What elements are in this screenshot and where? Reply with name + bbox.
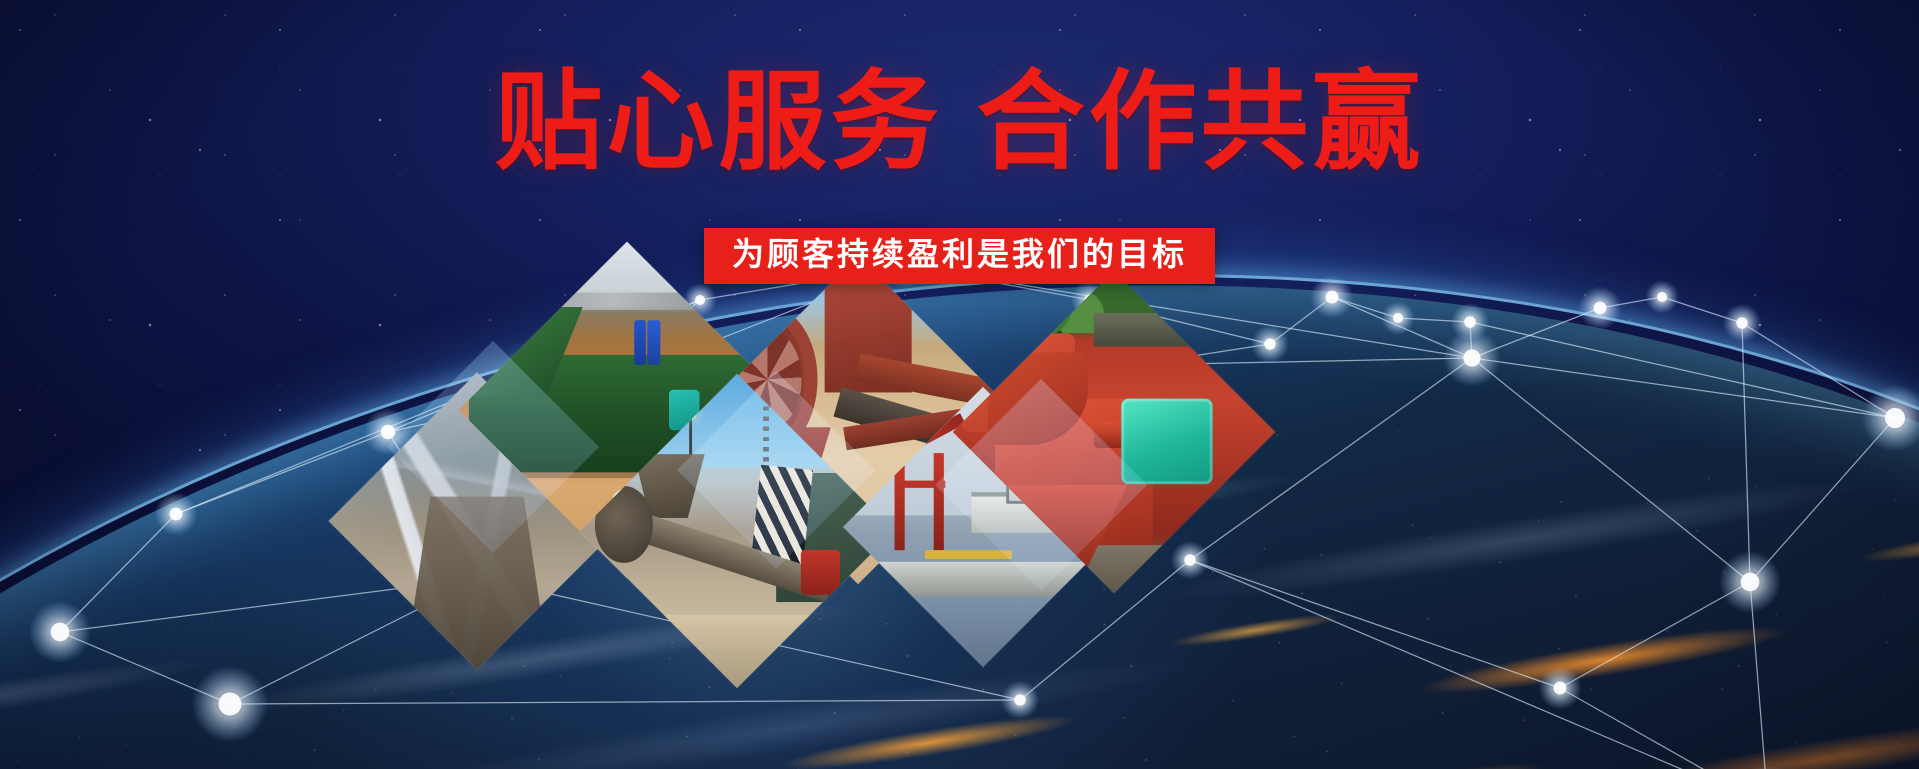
- promo-banner: 贴心服务 合作共赢 为顾客持续盈利是我们的目标: [0, 0, 1919, 769]
- subtitle-ribbon: 为顾客持续盈利是我们的目标: [704, 228, 1215, 284]
- subtitle-container: 为顾客持续盈利是我们的目标: [0, 228, 1919, 284]
- headline: 贴心服务 合作共赢: [0, 60, 1919, 183]
